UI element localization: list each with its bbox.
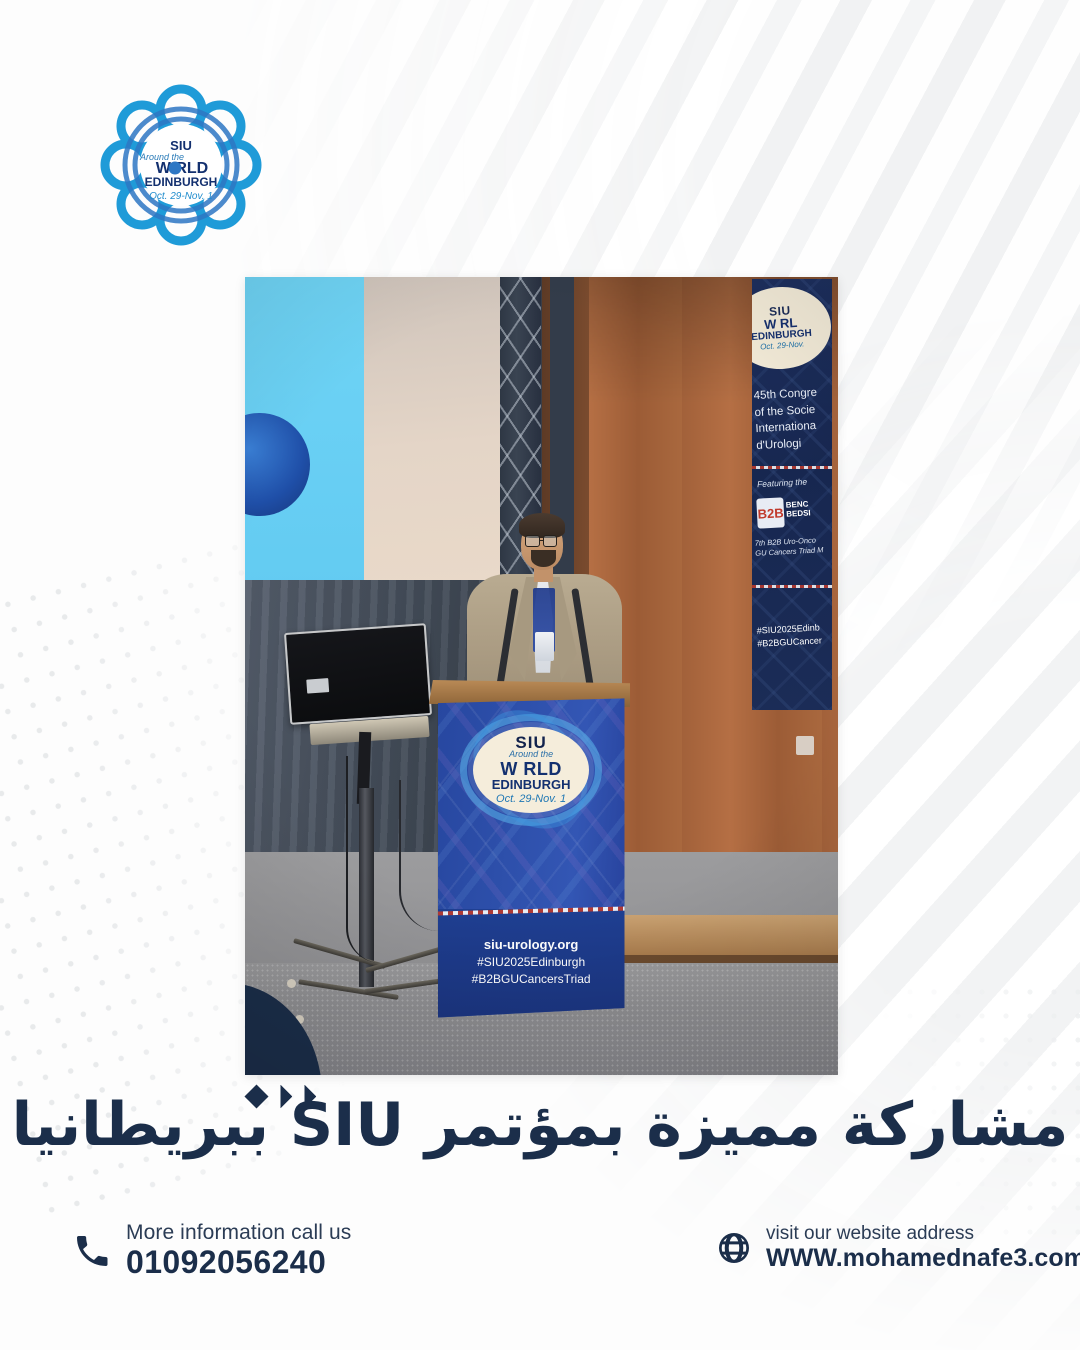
phone-number[interactable]: 01092056240 bbox=[126, 1245, 351, 1280]
banner-divider-top bbox=[752, 466, 832, 469]
speaker-glasses-left-lens bbox=[525, 535, 540, 547]
podium-hashtag-2: #B2BGUCancersTriad bbox=[438, 971, 625, 988]
tripod-caster bbox=[287, 979, 296, 988]
confidence-monitor bbox=[283, 623, 431, 724]
phone-icon bbox=[72, 1231, 112, 1271]
globe-icon bbox=[716, 1230, 752, 1266]
speaker-glasses-bridge bbox=[540, 540, 544, 541]
footer-bar: More information call us 01092056240 bbox=[0, 1218, 1080, 1308]
poster-canvas: SIU Around the W RLD EDINBURGH Oct. 29-N… bbox=[0, 0, 1080, 1350]
banner-badge-dates: Oct. 29-Nov. bbox=[760, 340, 805, 352]
siu-logo: SIU Around the W RLD EDINBURGH Oct. 29-N… bbox=[96, 80, 266, 250]
beige-wall-panel bbox=[364, 277, 518, 580]
contact-phone-block[interactable]: More information call us 01092056240 bbox=[72, 1222, 351, 1279]
banner-subtitle: 7th B2B Uro-Onco GU Cancers Triad M bbox=[755, 535, 824, 559]
logo-dates-text: Oct. 29-Nov. 1 bbox=[149, 191, 213, 202]
banner-hashtags: #SIU2025Edinb #B2BGUCancer bbox=[756, 622, 822, 651]
b2b-name: BENC BEDSI bbox=[786, 500, 811, 519]
speaker-badge bbox=[535, 632, 554, 661]
logo-edinburgh-text: EDINBURGH bbox=[145, 175, 218, 189]
banner-congress-text: 45th Congre of the Socie Internationa d'… bbox=[753, 384, 832, 455]
podium-badge-dates: Oct. 29-Nov. 1 bbox=[496, 793, 566, 806]
podium-footer-panel: siu-urology.org #SIU2025Edinburgh #B2BGU… bbox=[438, 909, 625, 1018]
conference-photo: SIU W RL EDINBURGH Oct. 29-Nov. 45th Con… bbox=[245, 277, 838, 1075]
podium-url: siu-urology.org bbox=[438, 937, 625, 954]
wall-socket bbox=[796, 736, 814, 755]
speaker-glasses-right-lens bbox=[543, 535, 558, 547]
banner-divider-bottom bbox=[752, 585, 832, 588]
podium-hashtag-1: #SIU2025Edinburgh bbox=[438, 954, 625, 971]
podium-badge: SIU Around the W RLD EDINBURGH Oct. 29-N… bbox=[473, 727, 589, 813]
logo-siu-text: SIU bbox=[170, 138, 192, 153]
phone-label: More information call us bbox=[126, 1222, 351, 1245]
website-label: visit our website address bbox=[766, 1224, 1080, 1245]
website-url[interactable]: WWW.mohamednafe3.com bbox=[766, 1245, 1080, 1272]
power-cable bbox=[346, 756, 382, 963]
podium-badge-world: W RLD bbox=[500, 760, 561, 778]
b2b-logo: B2B bbox=[756, 498, 785, 530]
b2b-name-line-2: BEDSI bbox=[786, 509, 811, 519]
rollup-banner: SIU W RL EDINBURGH Oct. 29-Nov. 45th Con… bbox=[752, 279, 832, 710]
page-title: مشاركة مميزة بمؤتمر SIU ببريطانيا bbox=[0, 1092, 1080, 1159]
podium-banner: SIU Around the W RLD EDINBURGH Oct. 29-N… bbox=[438, 698, 625, 1017]
podium-badge-edinburgh: EDINBURGH bbox=[492, 778, 571, 792]
contact-website-block[interactable]: visit our website address WWW.mohamednaf… bbox=[716, 1224, 1080, 1272]
